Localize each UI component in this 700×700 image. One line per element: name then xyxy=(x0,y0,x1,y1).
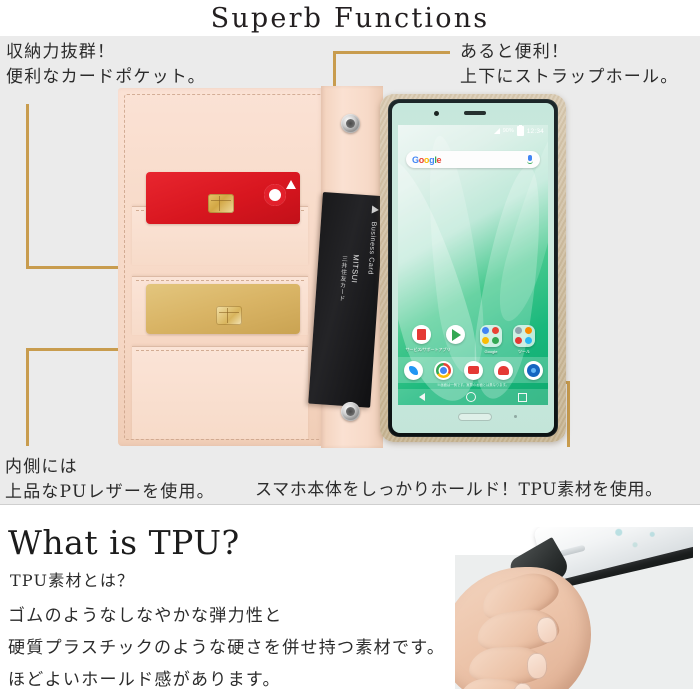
tpu-body-line-2: 硬質プラスチックのような硬さを併せ持つ素材です。 xyxy=(8,633,445,658)
google-search-bar[interactable]: Google xyxy=(406,151,540,168)
callout-strap-hole-line1: あると便利！ xyxy=(460,40,678,65)
home-button[interactable] xyxy=(458,413,492,421)
leather-inner-panel xyxy=(118,88,323,446)
business-card-label-brand: MITSUI xyxy=(350,254,361,284)
callout-card-pocket-line2: 便利なカードポケット。 xyxy=(6,65,206,90)
leader-line-card-pocket-vertical xyxy=(26,104,29,268)
tpu-body-line-1: ゴムのようなしなやかな弾力性と xyxy=(8,601,283,626)
home-screen-app-row: サービス/サポートアプリ Google ツール xyxy=(398,325,548,359)
google-folder-icon[interactable] xyxy=(480,325,502,347)
business-card-label-jp: 三井住友カード xyxy=(336,255,348,302)
hand xyxy=(455,567,591,689)
home-icon[interactable] xyxy=(466,392,476,402)
sensor-dot-icon xyxy=(514,415,517,418)
callout-card-pocket-line1: 収納力抜群！ xyxy=(6,40,206,65)
product-feature-infographic: Superb Functions 収納力抜群！ 便利なカードポケット。 あると便… xyxy=(0,0,700,700)
callout-tpu-hold: スマホ本体をしっかりホールド！TPU素材を使用。 xyxy=(255,478,663,503)
gold-credit-card xyxy=(146,284,300,334)
home-screen-dock xyxy=(398,357,548,383)
phone-bezel: 90% 12:34 Google xyxy=(388,99,558,437)
android-nav-bar xyxy=(398,389,548,405)
stitch-line-pocket-2 xyxy=(136,280,304,281)
mail-app-icon[interactable] xyxy=(494,361,513,380)
hand-holding-phone-photo xyxy=(455,527,693,689)
card-pocket-3 xyxy=(132,346,308,439)
callout-strap-hole-line2: 上下にストラップホール。 xyxy=(460,65,678,90)
tpu-explainer-section: What is TPU? TPU素材とは？ ゴムのようなしなやかな弾力性と 硬質… xyxy=(0,505,700,700)
service-app-icon[interactable] xyxy=(412,325,431,344)
callout-inner-leather: 内側には 上品なPUレザーを使用。 xyxy=(5,455,215,504)
screen-disclaimer-note: ※画面は一例です。実際の画面とは異なります。 xyxy=(398,382,548,387)
card-chip-icon xyxy=(216,306,242,325)
recents-icon[interactable] xyxy=(518,393,527,402)
callout-tpu-hold-line1: スマホ本体をしっかりホールド！TPU素材を使用。 xyxy=(255,478,663,503)
callout-inner-leather-line1: 内側には xyxy=(5,455,215,480)
android-status-bar: 90% 12:34 xyxy=(398,125,548,137)
service-app-label: サービス/サポートアプリ xyxy=(398,347,458,353)
business-card-label-en: Business Card xyxy=(366,221,377,275)
chrome-app-icon[interactable] xyxy=(434,361,453,380)
phone-case-back: 90% 12:34 Google xyxy=(380,94,566,442)
callout-inner-leather-line2: 上品なPUレザーを使用。 xyxy=(5,480,215,504)
phone-app-icon[interactable] xyxy=(404,361,423,380)
callout-strap-hole: あると便利！ 上下にストラップホール。 xyxy=(460,40,678,89)
phone-front-face: 90% 12:34 Google xyxy=(392,103,554,433)
google-logo-e: e xyxy=(437,155,442,165)
signal-icon xyxy=(494,128,500,134)
play-store-icon[interactable] xyxy=(446,325,465,344)
status-bar-clock: 12:34 xyxy=(527,128,544,135)
google-logo-g1: G xyxy=(412,155,419,165)
earpiece-icon xyxy=(464,111,486,115)
strap-hole-grommet-bottom xyxy=(341,402,360,421)
card-chip-icon xyxy=(208,194,234,213)
features-section: Superb Functions 収納力抜群！ 便利なカードポケット。 あると便… xyxy=(0,0,700,504)
strap-hole-grommet-top xyxy=(341,114,360,133)
leader-line-strap-horizontal xyxy=(333,51,450,54)
microphone-icon[interactable] xyxy=(527,155,534,164)
battery-percent-label: 90% xyxy=(503,128,514,134)
business-card-arrow-icon xyxy=(372,205,380,213)
back-icon[interactable] xyxy=(419,393,425,401)
tools-folder-icon[interactable] xyxy=(513,325,535,347)
fingernail xyxy=(527,653,548,680)
tools-folder-label: ツール xyxy=(509,349,539,355)
tpu-heading: What is TPU? xyxy=(8,523,240,562)
messages-app-icon[interactable] xyxy=(464,361,483,380)
page-title: Superb Functions xyxy=(0,3,700,34)
red-card-arrow-icon xyxy=(286,180,296,189)
google-folder-label: Google xyxy=(476,349,506,354)
phone-screen: 90% 12:34 Google xyxy=(398,125,548,405)
battery-icon xyxy=(517,126,524,136)
tpu-subheading: TPU素材とは？ xyxy=(10,567,134,591)
red-card-logo-icon xyxy=(264,184,286,206)
callout-card-pocket: 収納力抜群！ 便利なカードポケット。 xyxy=(6,40,206,89)
stitch-line-pocket-3 xyxy=(136,350,304,351)
google-logo: Google xyxy=(412,155,441,165)
leader-line-inner-vertical xyxy=(26,348,29,446)
camera-app-icon[interactable] xyxy=(524,361,543,380)
wallet-case-photo: Business Card MITSUI 三井住友カード xyxy=(118,88,578,448)
red-credit-card xyxy=(146,172,300,224)
tpu-body-line-3: ほどよいホールド感があります。 xyxy=(8,665,281,690)
front-camera-icon xyxy=(434,111,439,116)
